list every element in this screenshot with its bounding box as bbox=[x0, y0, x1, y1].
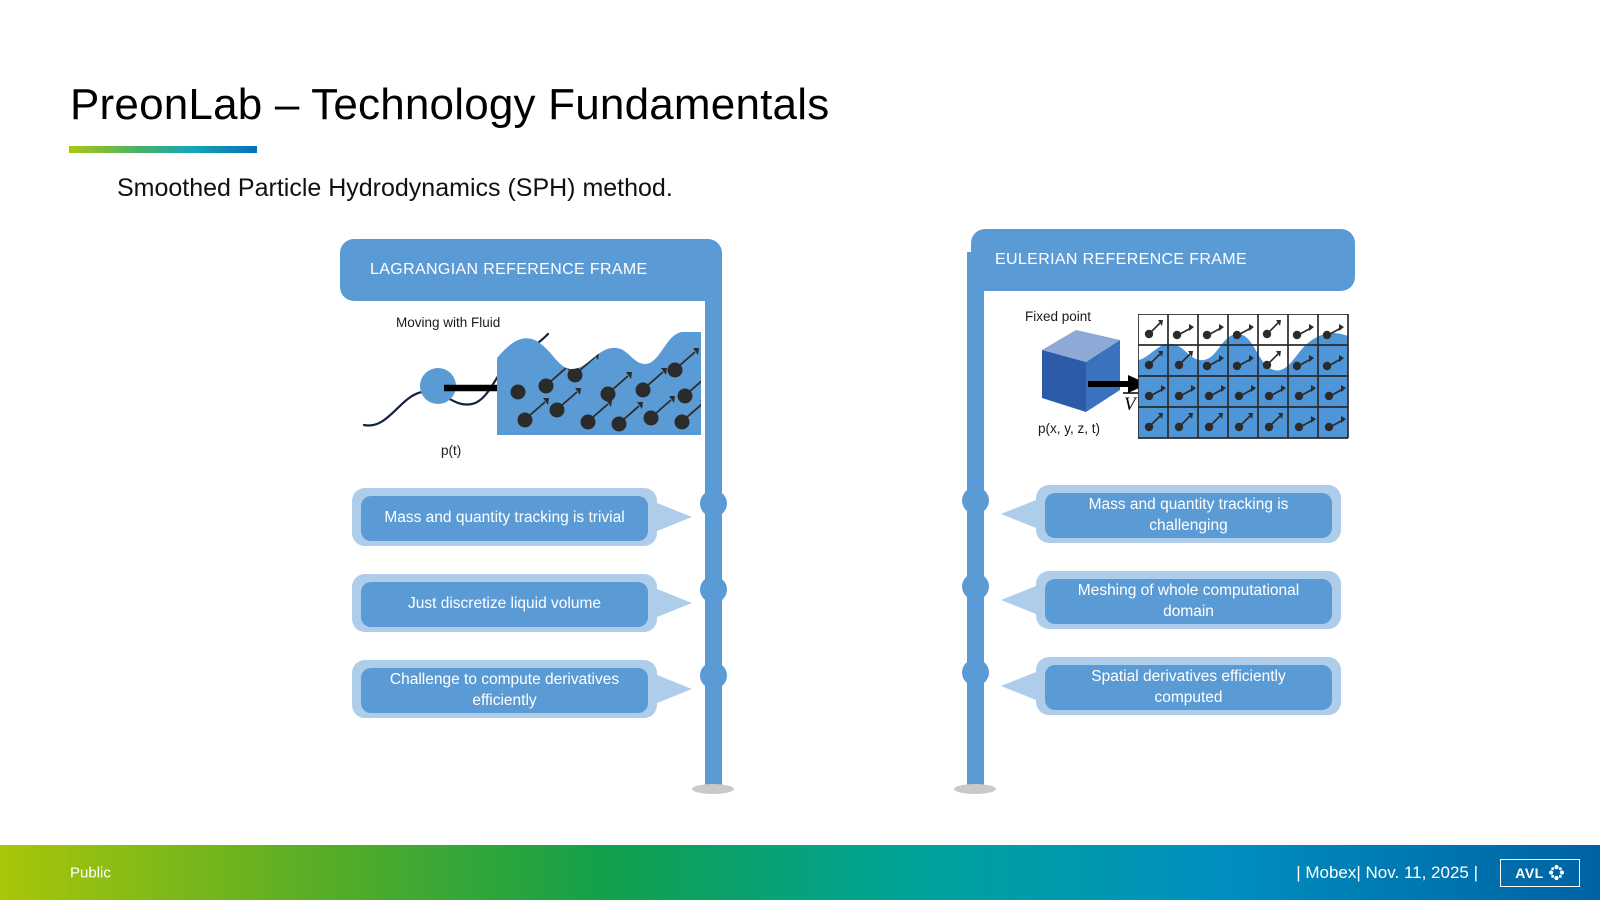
avl-logo-text: AVL bbox=[1515, 865, 1543, 881]
fixed-point-cube-illustration: V bbox=[1030, 328, 1150, 418]
left-panel-header: LAGRANGIAN REFERENCE FRAME bbox=[340, 239, 722, 301]
footer-classification: Public bbox=[70, 864, 111, 881]
right-stem bbox=[967, 252, 984, 790]
left-diagram-top-label: Moving with Fluid bbox=[396, 315, 500, 330]
right-callout-1-label: Mass and quantity tracking is challengin… bbox=[1045, 493, 1332, 538]
left-callout-3[interactable]: Challenge to compute derivatives efficie… bbox=[352, 660, 657, 718]
left-stem bbox=[705, 262, 722, 790]
eulerian-grid-illustration bbox=[1138, 314, 1350, 440]
avl-logo: AVL bbox=[1500, 859, 1580, 887]
right-diagram-bottom-label: p(x, y, z, t) bbox=[1038, 421, 1100, 436]
page-title: PreonLab – Technology Fundamentals bbox=[70, 80, 829, 130]
left-callout-2[interactable]: Just discretize liquid volume bbox=[352, 574, 657, 632]
left-callout-1-label: Mass and quantity tracking is trivial bbox=[361, 496, 648, 541]
left-callout-3-label: Challenge to compute derivatives efficie… bbox=[361, 668, 648, 713]
right-callout-2-label: Meshing of whole computational domain bbox=[1045, 579, 1332, 624]
right-callout-3[interactable]: Spatial derivatives efficiently computed bbox=[1036, 657, 1341, 715]
left-callout-1-tail bbox=[652, 501, 692, 533]
right-callout-3-label: Spatial derivatives efficiently computed bbox=[1045, 665, 1332, 710]
footer-meta: | Mobex| Nov. 11, 2025 | bbox=[1296, 863, 1478, 883]
left-stem-base-shadow bbox=[692, 784, 734, 794]
slide-canvas: PreonLab – Technology Fundamentals Smoot… bbox=[0, 0, 1600, 900]
right-callout-2[interactable]: Meshing of whole computational domain bbox=[1036, 571, 1341, 629]
title-accent-rule bbox=[69, 146, 257, 153]
lagrangian-illustration: V bbox=[360, 330, 705, 445]
avl-pinwheel-icon bbox=[1548, 864, 1565, 881]
footer-bar: Public | Mobex| Nov. 11, 2025 | AVL bbox=[0, 845, 1600, 900]
page-subtitle: Smoothed Particle Hydrodynamics (SPH) me… bbox=[117, 174, 673, 203]
right-diagram-top-label: Fixed point bbox=[1025, 309, 1091, 324]
left-callout-1[interactable]: Mass and quantity tracking is trivial bbox=[352, 488, 657, 546]
right-callout-1-tail bbox=[1001, 498, 1041, 530]
left-panel-header-label: LAGRANGIAN REFERENCE FRAME bbox=[370, 261, 648, 279]
left-stem-node-1 bbox=[700, 490, 727, 517]
right-stem-base-shadow bbox=[954, 784, 996, 794]
left-diagram-bottom-label: p(t) bbox=[441, 443, 461, 458]
left-callout-3-tail bbox=[652, 673, 692, 705]
right-panel-header-label: EULERIAN REFERENCE FRAME bbox=[995, 251, 1247, 269]
left-callout-2-tail bbox=[652, 587, 692, 619]
left-stem-node-2 bbox=[700, 576, 727, 603]
right-stem-node-3 bbox=[962, 659, 989, 686]
right-stem-node-2 bbox=[962, 573, 989, 600]
left-callout-2-label: Just discretize liquid volume bbox=[361, 582, 648, 627]
svg-text:V: V bbox=[1124, 394, 1138, 415]
right-callout-2-tail bbox=[1001, 584, 1041, 616]
left-stem-node-3 bbox=[700, 662, 727, 689]
right-callout-3-tail bbox=[1001, 670, 1041, 702]
right-stem-node-1 bbox=[962, 487, 989, 514]
right-callout-1[interactable]: Mass and quantity tracking is challengin… bbox=[1036, 485, 1341, 543]
right-panel-header: EULERIAN REFERENCE FRAME bbox=[971, 229, 1355, 291]
